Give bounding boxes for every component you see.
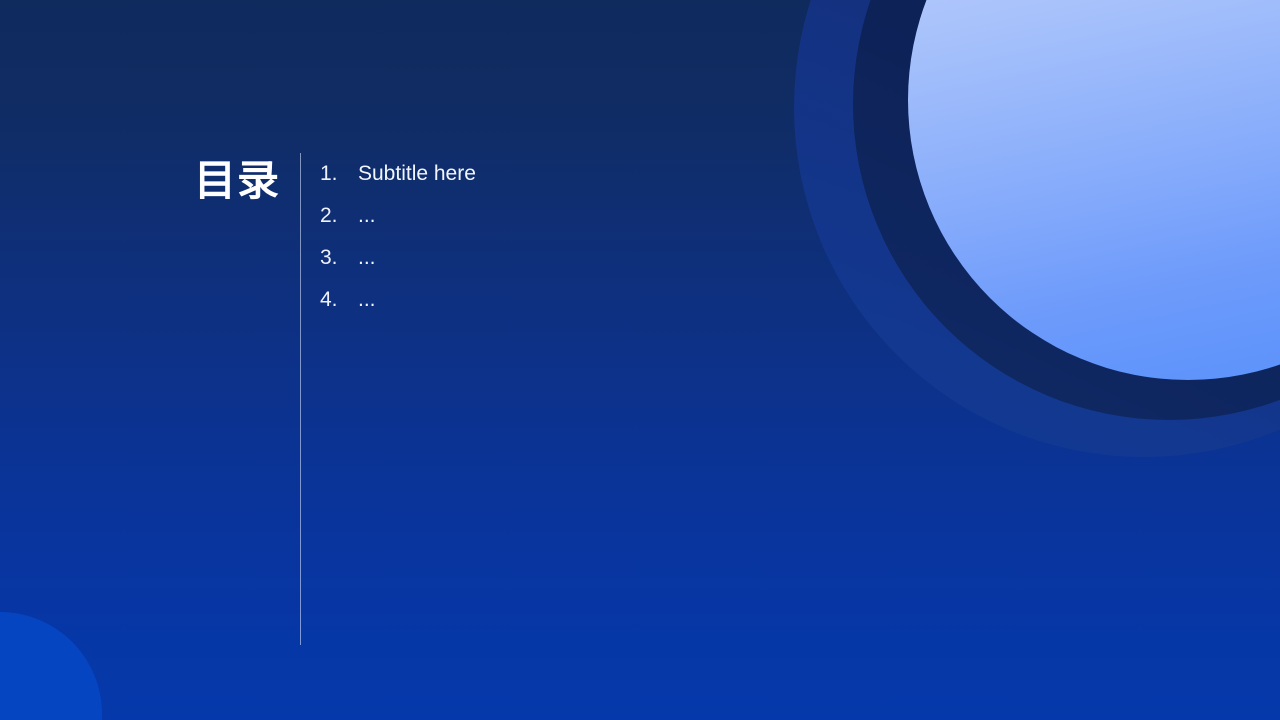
list-item-label: Subtitle here: [358, 162, 476, 186]
list-item-label: ...: [358, 246, 376, 270]
list-item-number: 4.: [320, 288, 358, 312]
slide-canvas: 目录 1. Subtitle here 2. ... 3. ... 4. ...: [0, 0, 1280, 720]
vertical-divider: [300, 153, 301, 645]
list-item[interactable]: 4. ...: [320, 288, 476, 330]
slide-content: 目录 1. Subtitle here 2. ... 3. ... 4. ...: [0, 0, 1280, 720]
list-item-label: ...: [358, 288, 376, 312]
list-item-number: 2.: [320, 204, 358, 228]
list-item[interactable]: 3. ...: [320, 246, 476, 288]
list-item[interactable]: 1. Subtitle here: [320, 162, 476, 204]
list-item-label: ...: [358, 204, 376, 228]
toc-list: 1. Subtitle here 2. ... 3. ... 4. ...: [320, 162, 476, 330]
list-item[interactable]: 2. ...: [320, 204, 476, 246]
list-item-number: 1.: [320, 162, 358, 186]
page-title: 目录: [120, 158, 280, 204]
list-item-number: 3.: [320, 246, 358, 270]
